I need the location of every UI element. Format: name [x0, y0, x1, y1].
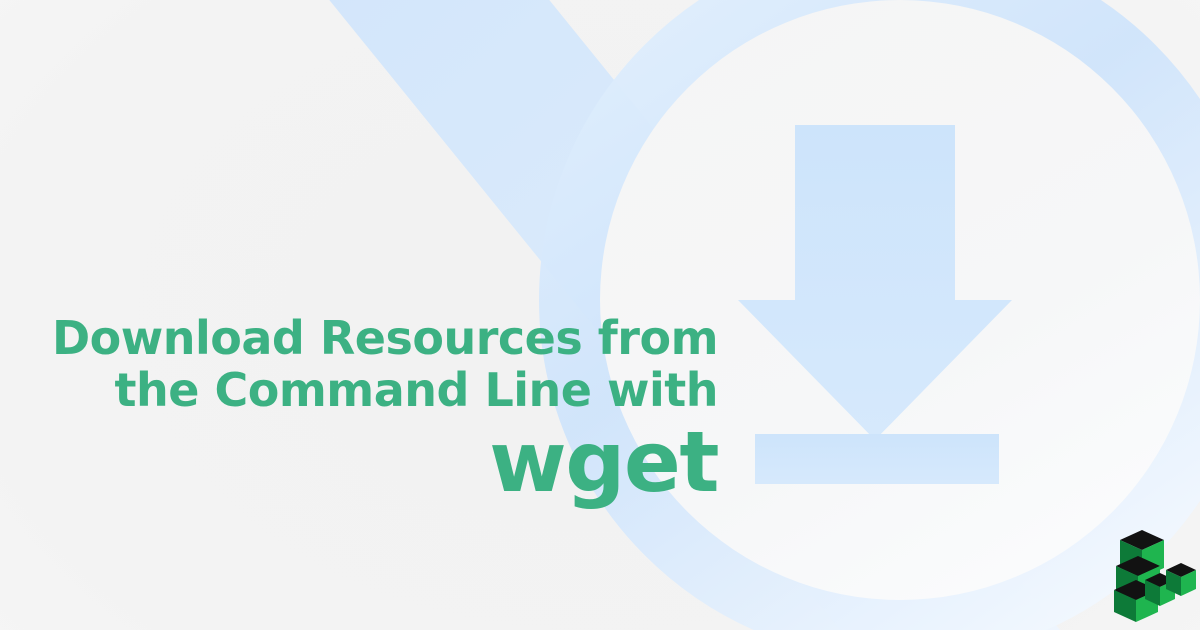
headline-line-3-wget: wget [0, 418, 718, 506]
headline-line-2: the Command Line with [0, 364, 718, 416]
headline-block: Download Resources from the Command Line… [0, 312, 718, 506]
isometric-cubes-logo [1112, 518, 1196, 622]
download-arrow-icon [738, 125, 1012, 484]
cube-small-right [1166, 563, 1196, 596]
headline-line-1: Download Resources from [0, 312, 718, 364]
banner-canvas: Download Resources from the Command Line… [0, 0, 1200, 630]
